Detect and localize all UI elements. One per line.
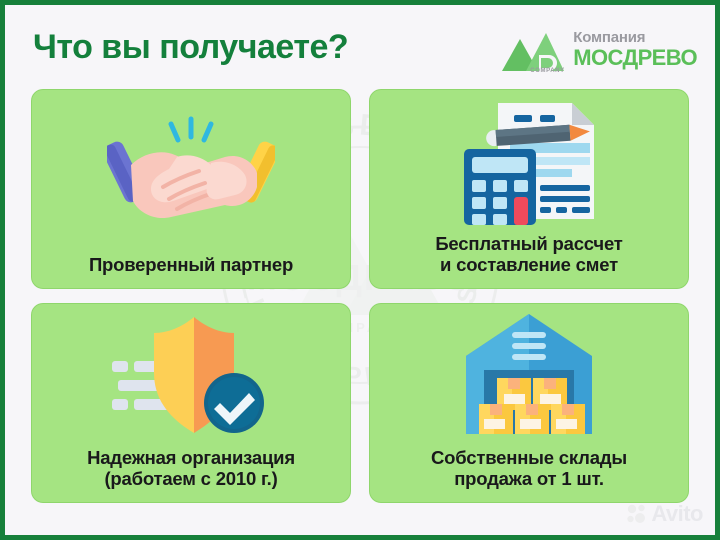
benefit-card-free-estimate[interactable]: Бесплатный рассчет и составление смет: [369, 89, 689, 289]
benefit-card-label: Надежная организация (работаем с 2010 г.…: [81, 447, 301, 490]
benefit-card-reliable-organization[interactable]: Надежная организация (работаем с 2010 г.…: [31, 303, 351, 503]
benefit-card-label: Проверенный партнер: [83, 254, 299, 276]
brand-wordmark: Компания МОСДРЕВО: [573, 30, 697, 69]
avito-watermark: Avito: [626, 501, 703, 527]
poster-frame: WWW.MOSDREVO.RU LUMBER PRODUCTS МОСДРЕВО…: [5, 5, 715, 535]
avito-wordmark: Avito: [651, 501, 703, 527]
benefits-grid: Проверенный партнер: [5, 89, 715, 519]
benefit-card-label: Собственные склады продажа от 1 шт.: [425, 447, 633, 490]
brand-company-caption: COMPANY: [530, 68, 564, 74]
calculator-document-icon: [370, 90, 688, 233]
mosdrevo-mountain-icon: COMPANY: [500, 25, 566, 73]
page-title: Что вы получаете?: [33, 28, 348, 67]
brand-logo: COMPANY Компания МОСДРЕВО: [500, 25, 697, 73]
benefit-card-verified-partner[interactable]: Проверенный партнер: [31, 89, 351, 289]
benefit-card-own-warehouses[interactable]: Собственные склады продажа от 1 шт.: [369, 303, 689, 503]
warehouse-boxes-icon: [370, 304, 688, 447]
benefit-card-label: Бесплатный рассчет и составление смет: [429, 233, 628, 276]
brand-line-mosdrevo: МОСДРЕВО: [573, 47, 697, 69]
shield-check-icon: [32, 304, 350, 447]
handshake-icon: [32, 90, 350, 254]
header: Что вы получаете? COMPANY Компания МОСДР…: [5, 5, 715, 89]
brand-line-kompaniya: Компания: [573, 30, 697, 45]
avito-dots-icon: [626, 504, 647, 525]
